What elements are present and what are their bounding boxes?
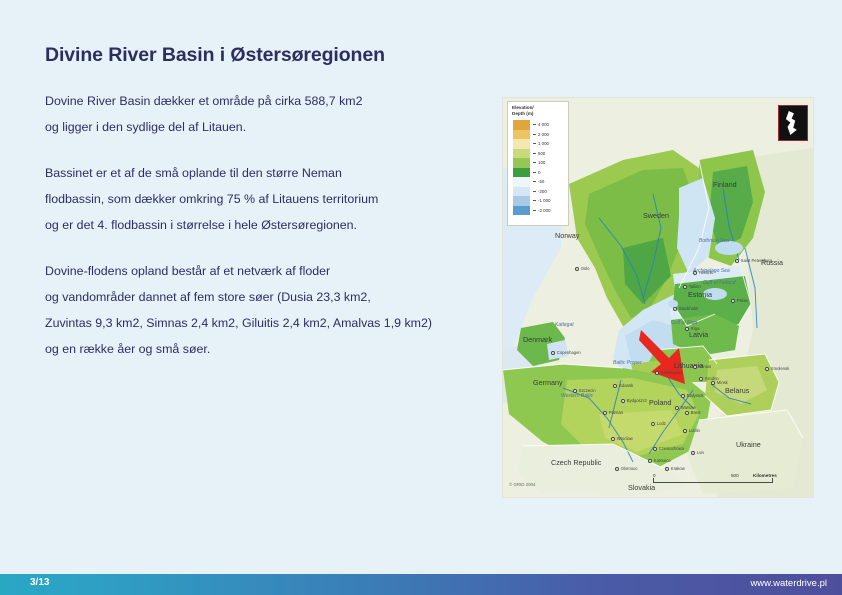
map-label-city-tallinn: Tallinn — [683, 284, 701, 289]
page-title: Divine River Basin i Østersøregionen — [45, 44, 385, 67]
map-label-city-czestochowa: Czestochowa — [653, 446, 684, 451]
paragraph-3-line-3: Zuvintas 9,3 km2, Simnas 2,4 km2, Giluit… — [45, 310, 495, 336]
paragraph-3: Dovine-flodens opland består af et netvæ… — [45, 258, 495, 362]
map-label-city-szczecin: Szczecin — [573, 388, 596, 393]
map-label-country-belarus: Belarus — [725, 386, 749, 395]
map-label-city-katowice: Katowice — [648, 458, 671, 463]
map-label-sea-bothnian-sea: Bothnian Sea — [699, 238, 729, 244]
slide-body-text: Dovine River Basin dækker et område på c… — [45, 88, 495, 362]
legend-swatch-0 — [513, 120, 530, 130]
map-label-city-pskov: Pskov — [731, 298, 748, 303]
scalebar-unit-label: Kilometres — [753, 473, 777, 478]
map-label-city-riga: Riga — [685, 326, 699, 331]
legend-swatch-7 — [513, 187, 530, 197]
map-label-city-gdansk: Gdansk — [613, 383, 633, 388]
slide-footer: 3/13 www.waterdrive.pl — [0, 574, 842, 595]
paragraph-2-line-2: flodbassin, som dækker omkring 75 % af L… — [45, 186, 495, 212]
scalebar-end-label: 500 — [731, 473, 739, 478]
map-label-country-latvia: Latvia — [689, 330, 708, 339]
legend-label-7: -200 — [533, 187, 550, 197]
locator-inset-map — [778, 105, 808, 141]
map-label-city-oslo: Oslo — [575, 266, 589, 271]
paragraph-1: Dovine River Basin dækker et område på c… — [45, 88, 495, 140]
map-label-city-poznan: Poznan — [603, 410, 623, 415]
map-label-country-germany: Germany — [533, 378, 563, 387]
scalebar-start-label: 0 — [653, 473, 656, 478]
legend-label-5: 0 — [533, 168, 550, 178]
legend-swatch-6 — [513, 177, 530, 187]
map-scalebar: 0 500 Kilometres — [653, 470, 773, 483]
map-label-country-finland: Finland — [713, 180, 737, 189]
legend-label-2: 1 000 — [533, 139, 550, 149]
legend-label-0: 4 000 — [533, 120, 550, 130]
map-label-city-smolensk: Smolensk — [765, 366, 789, 371]
map-label-city-helsinki: Helsinki — [693, 270, 713, 275]
page-number: 3/13 — [30, 577, 49, 588]
legend-color-scale — [513, 120, 530, 215]
locator-inset-shape — [784, 111, 800, 135]
map-label-country-czech-republic: Czech Republic — [551, 458, 601, 467]
map-label-city-kaliningrad: Kaliningrad — [655, 370, 682, 375]
map-label-city-lviv: Lviv — [691, 450, 704, 455]
paragraph-1-line-2: og ligger i den sydlige del af Litauen. — [45, 114, 495, 140]
map-label-city-lublin: Lublin — [683, 428, 700, 433]
legend-swatch-5 — [513, 168, 530, 178]
paragraph-2: Bassinet er et af de små oplande til den… — [45, 160, 495, 238]
map-label-city-copenhagen: Copenhagen — [551, 350, 581, 355]
legend-swatch-3 — [513, 149, 530, 159]
map-label-country-ukraine: Ukraine — [736, 440, 761, 449]
map-label-city-brest: Brest — [685, 410, 701, 415]
map-credit: © GRID 2004 — [509, 482, 535, 487]
map-label-country-sweden: Sweden — [643, 211, 669, 220]
paragraph-3-line-2: og vandområder dannet af fem store søer … — [45, 284, 495, 310]
legend-label-9: -2 000 — [533, 206, 550, 216]
map-label-country-norway: Norway — [555, 231, 579, 240]
legend-swatch-1 — [513, 130, 530, 140]
scalebar-line — [653, 478, 773, 483]
legend-label-1: 2 000 — [533, 130, 550, 140]
legend-swatch-9 — [513, 206, 530, 216]
map-label-sea-western-baltic: Western Baltic — [561, 393, 593, 399]
map-label-city-grodno: Grodno — [699, 376, 719, 381]
map-label-country-denmark: Denmark — [523, 335, 552, 344]
scalebar-labels: 0 500 Kilometres — [653, 470, 773, 478]
map-label-city-bydgoszcz: Bydgoszcz — [621, 398, 647, 403]
legend-label-3: 500 — [533, 149, 550, 159]
map-label-sea-baltic-proper: Baltic Proper — [613, 360, 642, 366]
map-legend: Elevation/ Depth (m) 4 0002 0001 0005001… — [507, 101, 569, 226]
paragraph-2-line-3: og er det 4. flodbassin i størrelse i he… — [45, 212, 495, 238]
map-label-sea-gulf-of-finland: Gulf of Finland — [703, 280, 736, 286]
legend-value-labels: 4 0002 0001 0005001000-50-200-1 000-2 00… — [533, 120, 550, 215]
paragraph-3-line-4: og en række åer og små søer. — [45, 336, 495, 362]
legend-label-4: 100 — [533, 158, 550, 168]
map-label-country-slovakia: Slovakia — [628, 483, 655, 492]
map-label-country-poland: Poland — [649, 398, 671, 407]
footer-url[interactable]: www.waterdrive.pl — [750, 578, 827, 589]
legend-swatch-8 — [513, 196, 530, 206]
legend-swatch-4 — [513, 158, 530, 168]
map-label-city-olomouc: Olomouc — [615, 466, 638, 471]
paragraph-1-line-1: Dovine River Basin dækker et område på c… — [45, 88, 495, 114]
map-label-country-estonia: Estonia — [688, 290, 712, 299]
baltic-sea-region-map: Elevation/ Depth (m) 4 0002 0001 0005001… — [503, 98, 813, 497]
map-label-city-wroclaw: Wroclaw — [611, 436, 633, 441]
legend-label-8: -1 000 — [533, 196, 550, 206]
map-label-city-stockholm: Stockholm — [673, 306, 698, 311]
legend-label-6: -50 — [533, 177, 550, 187]
map-label-sea-kattegat: Kattegat — [555, 322, 574, 328]
legend-title-line-2: Depth (m) — [512, 111, 565, 117]
map-label-city-bialystok: Bialystok — [681, 393, 704, 398]
map-label-city-vilnius: Vilnius — [693, 364, 711, 369]
legend-title: Elevation/ Depth (m) — [512, 105, 565, 116]
map-label-city-saint-petersburg: Saint Petersburg — [735, 258, 772, 263]
legend-swatch-2 — [513, 139, 530, 149]
paragraph-2-line-1: Bassinet er et af de små oplande til den… — [45, 160, 495, 186]
map-label-city-lodz: Lodz — [651, 421, 666, 426]
paragraph-3-line-1: Dovine-flodens opland består af et netvæ… — [45, 258, 495, 284]
